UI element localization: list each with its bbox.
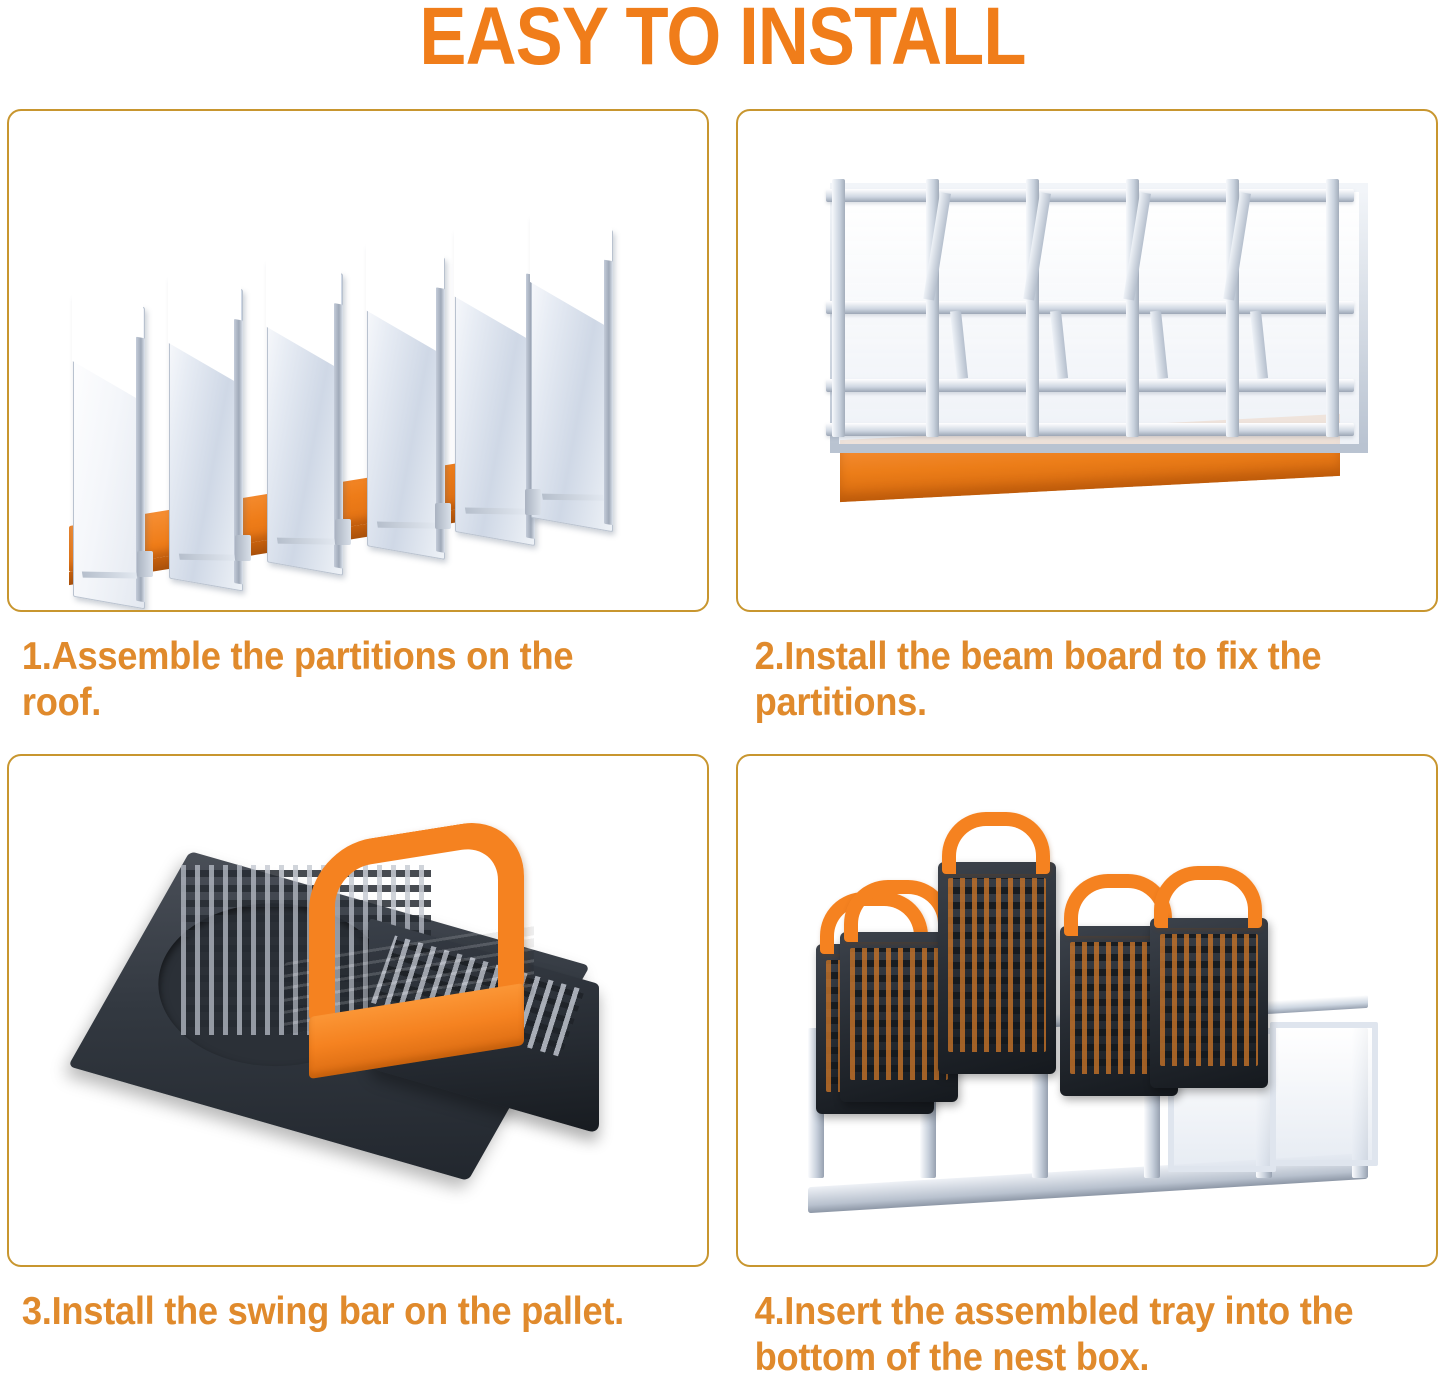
step-2-figure xyxy=(736,109,1438,612)
partition-panel-4 xyxy=(367,244,445,560)
partition-panel-1 xyxy=(73,295,145,610)
inserted-tray xyxy=(1150,918,1268,1088)
step-2-caption: 2.Install the beam board to fix the part… xyxy=(736,612,1389,754)
partition-foot xyxy=(335,519,351,545)
page-title: EASY TO INSTALL xyxy=(101,0,1344,80)
partition-upright xyxy=(1326,179,1339,437)
partition-foot xyxy=(435,503,451,529)
inserted-tray xyxy=(938,862,1056,1074)
install-steps-grid: 1.Assemble the partitions on the roof. 2… xyxy=(7,109,1438,1384)
beam-board-top xyxy=(826,189,1354,202)
partition-foot xyxy=(137,551,153,577)
beam-board-lower xyxy=(826,379,1354,392)
partition-panel-5 xyxy=(455,230,535,546)
beam-board-frame-photo xyxy=(738,111,1436,610)
partition-panel-2 xyxy=(169,276,243,591)
orange-swing-bar-handle xyxy=(844,880,952,942)
trays-inserted-nest-box-photo xyxy=(738,756,1436,1265)
swing-bar-tray-photo xyxy=(9,756,707,1265)
beam-board-bottom xyxy=(826,423,1354,436)
partition-foot xyxy=(525,489,541,515)
partition-foot xyxy=(235,535,251,561)
orange-swing-bar-handle xyxy=(309,814,524,1023)
step-1-figure xyxy=(7,109,709,612)
step-4-caption: 4.Insert the assembled tray into the bot… xyxy=(736,1267,1389,1386)
partition-upright xyxy=(832,179,845,437)
partition-panel-3 xyxy=(267,260,343,575)
galvanized-cage xyxy=(830,183,1368,453)
beam-board-middle xyxy=(826,301,1354,314)
step-1-caption: 1.Assemble the partitions on the roof. xyxy=(7,612,660,754)
orange-swing-bar-handle xyxy=(942,812,1050,874)
orange-swing-bar-handle xyxy=(1154,866,1262,928)
step-3-caption: 3.Install the swing bar on the pallet. xyxy=(7,1267,660,1386)
partitions-on-pallet-photo xyxy=(9,111,707,610)
step-4-figure xyxy=(736,754,1438,1267)
step-3-figure xyxy=(7,754,709,1267)
empty-nest-cell xyxy=(1270,1022,1378,1166)
partition-panel-6 xyxy=(531,216,613,532)
